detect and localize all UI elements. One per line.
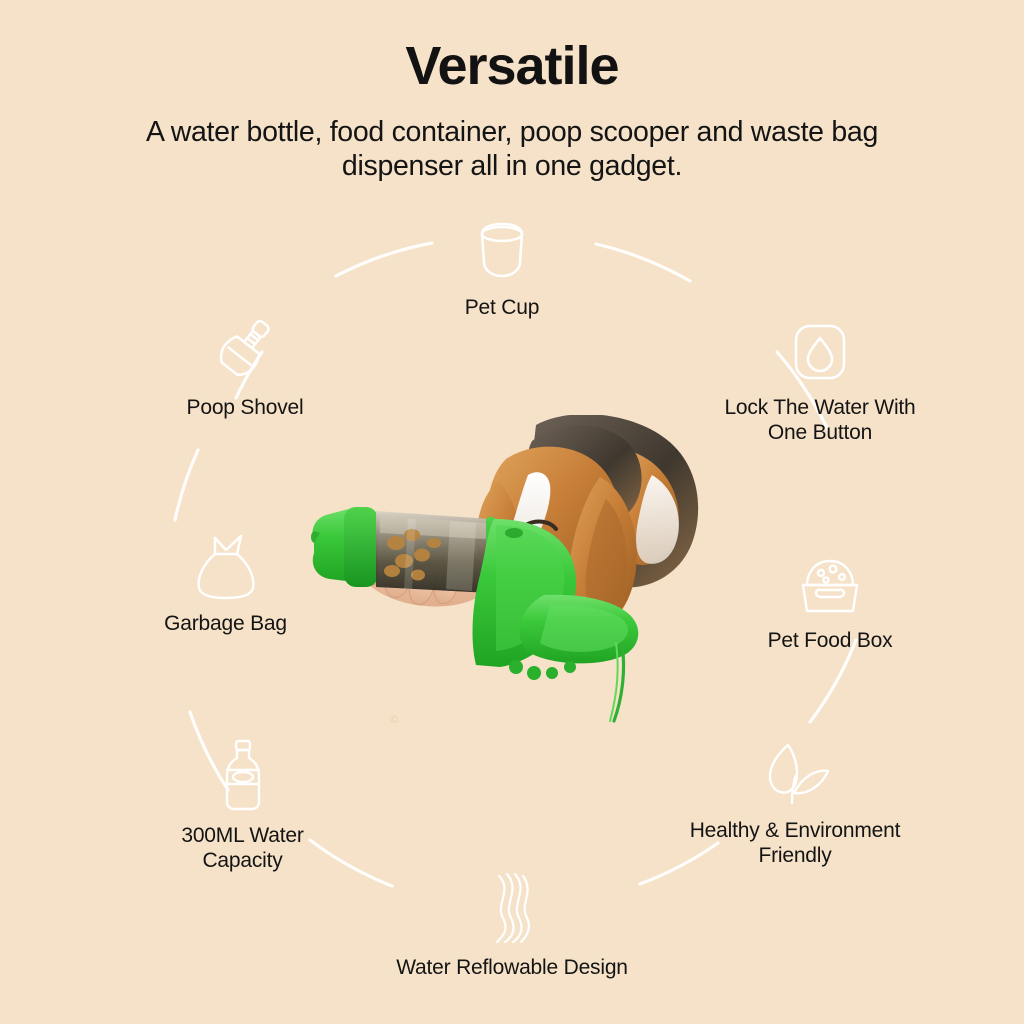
hero-product-photo bbox=[300, 415, 720, 735]
feature-pet-cup[interactable]: Pet Cup bbox=[382, 212, 622, 321]
water-lock-icon bbox=[690, 312, 950, 384]
feature-label: 300ML Water Capacity bbox=[115, 824, 370, 873]
feature-garbage-bag[interactable]: Garbage Bag bbox=[118, 528, 333, 637]
page-subtitle: A water bottle, food container, poop sco… bbox=[92, 116, 932, 183]
trash-bag-icon bbox=[118, 528, 333, 600]
feature-label: Poop Shovel bbox=[140, 396, 350, 421]
water-flow-icon bbox=[362, 872, 662, 944]
feature-label: Lock The Water With One Button bbox=[690, 396, 950, 445]
page-title: Versatile bbox=[0, 38, 1024, 95]
watermark: © bbox=[390, 712, 398, 745]
bottle-icon bbox=[115, 740, 370, 812]
feature-water-reflowable[interactable]: Water Reflowable Design bbox=[362, 872, 662, 981]
feature-label: Healthy & Environment Friendly bbox=[645, 819, 945, 868]
feature-label: Pet Cup bbox=[382, 296, 622, 321]
feature-poop-shovel[interactable]: Poop Shovel bbox=[140, 312, 350, 421]
feature-water-capacity[interactable]: 300ML Water Capacity bbox=[115, 740, 370, 873]
feature-eco-friendly[interactable]: Healthy & Environment Friendly bbox=[645, 735, 945, 868]
food-bowl-icon bbox=[720, 545, 940, 617]
cup-icon bbox=[382, 212, 622, 284]
feature-pet-food-box[interactable]: Pet Food Box bbox=[720, 545, 940, 654]
shovel-icon bbox=[140, 312, 350, 384]
leaf-icon bbox=[645, 735, 945, 807]
infographic-canvas: Versatile A water bottle, food container… bbox=[0, 0, 1024, 1024]
feature-lock-water[interactable]: Lock The Water With One Button bbox=[690, 312, 950, 445]
feature-label: Garbage Bag bbox=[118, 612, 333, 637]
feature-label: Pet Food Box bbox=[720, 629, 940, 654]
feature-label: Water Reflowable Design bbox=[362, 956, 662, 981]
